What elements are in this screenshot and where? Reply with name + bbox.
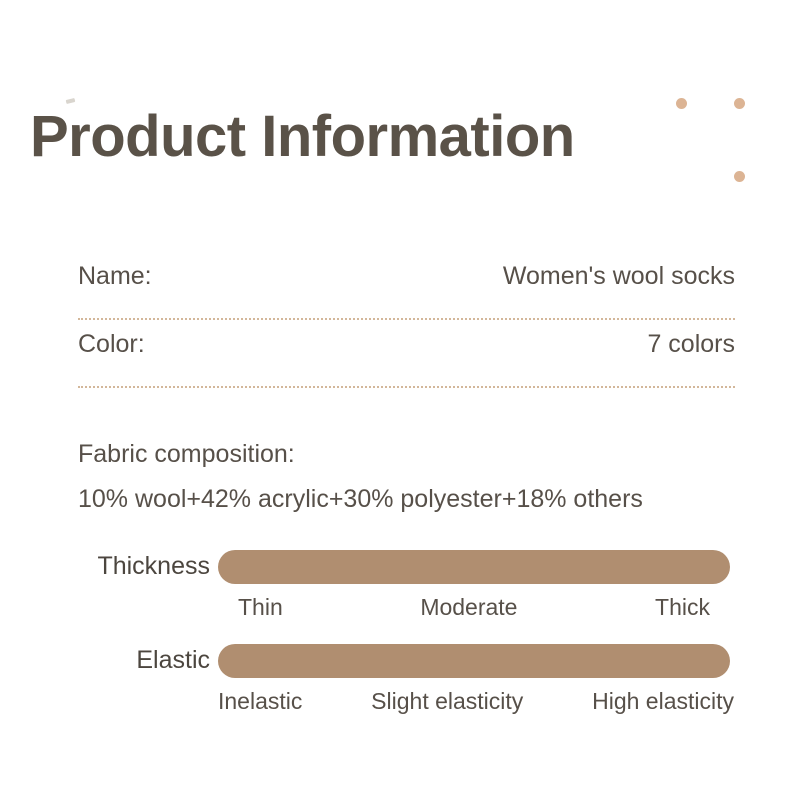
spec-label-name: Name: [78, 262, 152, 291]
meter-elastic-tick-high-elasticity: High elasticity [592, 688, 734, 715]
decorative-dot-icon [676, 98, 687, 109]
spec-list: Name: Women's wool socks Color: 7 colors [78, 262, 735, 398]
meter-elastic-tick-inelastic: Inelastic [218, 688, 302, 715]
decorative-dot-icon [734, 171, 745, 182]
spec-value-name: Women's wool socks [503, 262, 735, 291]
meter-thickness-tick-thin: Thin [238, 594, 283, 621]
meter-thickness-ticks: Thin Moderate Thick [238, 594, 710, 621]
spec-divider [78, 318, 735, 320]
meter-elastic-tick-slight-elasticity: Slight elasticity [371, 688, 523, 715]
meter-elastic: Elastic Inelastic Slight elasticity High… [0, 642, 800, 682]
page-title: Product Information [30, 108, 575, 166]
spec-divider [78, 386, 735, 388]
fabric-composition-label: Fabric composition: [78, 440, 758, 469]
meter-thickness-label: Thickness [97, 552, 210, 581]
spec-value-color: 7 colors [647, 330, 735, 359]
fabric-composition-block: Fabric composition: 10% wool+42% acrylic… [78, 440, 758, 514]
meter-thickness-tick-thick: Thick [655, 594, 710, 621]
spec-row-name: Name: Women's wool socks [78, 262, 735, 310]
meter-thickness-row: Thickness [0, 548, 800, 588]
meter-thickness-bar[interactable] [218, 550, 730, 584]
meter-thickness: Thickness Thin Moderate Thick [0, 548, 800, 588]
meter-elastic-ticks: Inelastic Slight elasticity High elastic… [218, 688, 734, 715]
spec-label-color: Color: [78, 330, 145, 359]
decorative-dot-icon [734, 98, 745, 109]
meter-elastic-label: Elastic [136, 646, 210, 675]
spec-row-color: Color: 7 colors [78, 330, 735, 378]
product-information-card: Product Information Name: Women's wool s… [0, 0, 800, 800]
fabric-composition-value: 10% wool+42% acrylic+30% polyester+18% o… [78, 485, 758, 514]
meter-elastic-row: Elastic [0, 642, 800, 682]
meter-elastic-bar[interactable] [218, 644, 730, 678]
meter-thickness-tick-moderate: Moderate [420, 594, 517, 621]
